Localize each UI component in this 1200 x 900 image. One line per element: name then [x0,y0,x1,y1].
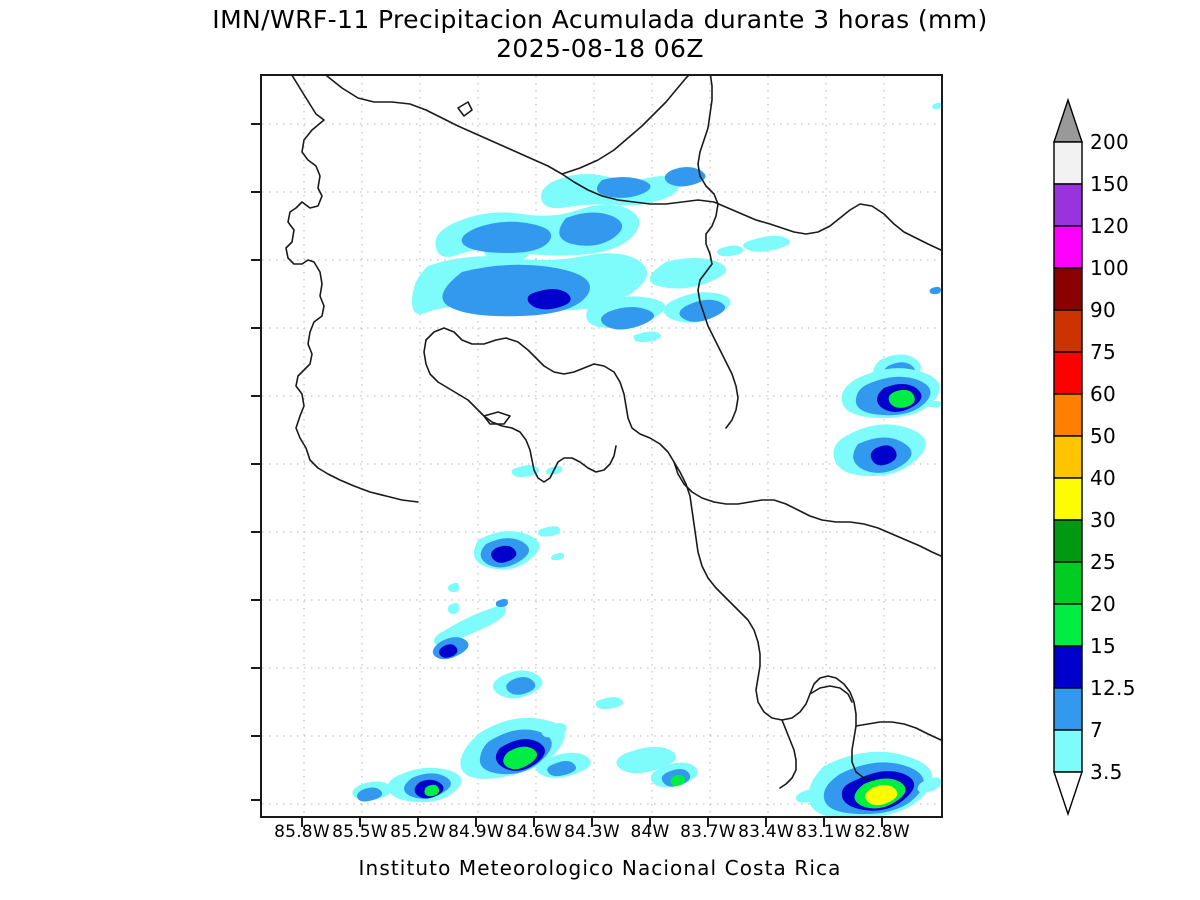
ytick-mark-3 [251,327,260,329]
footer-attribution: Instituto Meteorologico Nacional Costa R… [0,856,1200,880]
ytick-mark-5 [251,463,260,465]
cb-label-30: 30 [1090,508,1116,532]
cb-under-arrow [1054,772,1082,814]
cb-band-7-12.5 [1054,688,1082,730]
xtick-mark-9 [823,818,825,827]
xtick-mark-4 [533,818,535,827]
cb-label-150: 150 [1090,172,1129,196]
cb-label-7: 7 [1090,718,1103,742]
precipitation-field [352,103,941,816]
cb-label-25: 25 [1090,550,1116,574]
ytick-mark-1 [251,191,260,193]
title-line-1: IMN/WRF-11 Precipitacion Acumulada duran… [0,6,1200,35]
cb-band-60-75 [1054,352,1082,394]
cb-band-3.5-7 [1054,730,1082,772]
ytick-mark-10 [251,799,260,801]
cb-label-75: 75 [1090,340,1116,364]
cb-band-150-200 [1054,142,1082,184]
cb-band-100-120 [1054,226,1082,268]
cb-label-200: 200 [1090,130,1129,154]
cb-label-15: 15 [1090,634,1116,658]
chart-title: IMN/WRF-11 Precipitacion Acumulada duran… [0,6,1200,63]
xtick-mark-2 [417,818,419,827]
xtick-mark-10 [881,818,883,827]
xtick-mark-8 [765,818,767,827]
ytick-mark-9 [251,735,260,737]
map-plot-area [260,74,943,818]
ytick-mark-2 [251,259,260,261]
cb-label-120: 120 [1090,214,1129,238]
ytick-mark-4 [251,395,260,397]
xtick-mark-1 [359,818,361,827]
cb-label-50: 50 [1090,424,1116,448]
cb-band-30-40 [1054,478,1082,520]
colorbar-swatches [1050,96,1090,816]
cb-band-12.5-15 [1054,646,1082,688]
xtick-mark-3 [475,818,477,827]
ytick-mark-8 [251,667,260,669]
xtick-mark-0 [301,818,303,827]
cb-label-60: 60 [1090,382,1116,406]
cb-label-12.5: 12.5 [1090,676,1136,700]
cb-band-40-50 [1054,436,1082,478]
cb-label-90: 90 [1090,298,1116,322]
ytick-mark-6 [251,531,260,533]
xtick-mark-5 [591,818,593,827]
map-canvas [262,76,941,816]
cb-label-3.5: 3.5 [1090,760,1123,784]
cb-label-40: 40 [1090,466,1116,490]
xtick-mark-7 [707,818,709,827]
cb-band-120-150 [1054,184,1082,226]
cb-band-90-100 [1054,268,1082,310]
cb-band-15-20 [1054,604,1082,646]
ytick-mark-7 [251,599,260,601]
cb-band-75-90 [1054,310,1082,352]
cb-label-20: 20 [1090,592,1116,616]
cb-band-20-25 [1054,562,1082,604]
weather-map-page: IMN/WRF-11 Precipitacion Acumulada duran… [0,0,1200,900]
ytick-mark-0 [251,123,260,125]
cb-over-arrow [1054,100,1082,142]
title-line-2: 2025-08-18 06Z [0,35,1200,64]
cb-band-50-60 [1054,394,1082,436]
cb-band-25-30 [1054,520,1082,562]
xtick-mark-6 [649,818,651,827]
cb-label-100: 100 [1090,256,1129,280]
